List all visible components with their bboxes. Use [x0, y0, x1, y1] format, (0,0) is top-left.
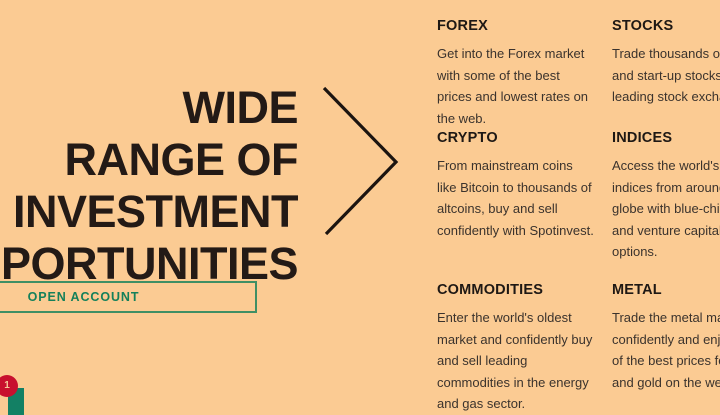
feature-stocks-body-line: and start-up stocks f [612, 68, 720, 83]
chevron-right-icon [316, 80, 408, 244]
feature-metal-body-line: confidently and enjo [612, 332, 720, 347]
feature-forex-title: FOREX [437, 18, 595, 34]
feature-crypto-body: From mainstream coins like Bitcoin to th… [437, 155, 595, 241]
feature-metal-body-line: and gold on the web [612, 375, 720, 390]
feature-stocks-title: STOCKS [612, 18, 720, 34]
feature-stocks-body-line: Trade thousands of b [612, 46, 720, 61]
feature-forex: FOREX Get into the Forex market with som… [437, 18, 595, 129]
feature-forex-body: Get into the Forex market with some of t… [437, 43, 595, 129]
headline-line-3: INVESTMENT [0, 186, 298, 238]
headline-line-1: WIDE [0, 82, 298, 134]
page-viewport: WIDE RANGE OF INVESTMENT OPPORTUNITIES O… [0, 0, 720, 415]
feature-metal: METAL Trade the metal mar confidently an… [612, 282, 720, 393]
hero-section: WIDE RANGE OF INVESTMENT OPPORTUNITIES O… [0, 0, 310, 415]
feature-commodities-body: Enter the world's oldest market and conf… [437, 307, 595, 415]
feature-metal-body: Trade the metal mar confidently and enjo… [612, 307, 720, 393]
feature-indices-title: INDICES [612, 130, 720, 146]
feature-stocks: STOCKS Trade thousands of b and start-up… [612, 18, 720, 108]
feature-indices: INDICES Access the world's le indices fr… [612, 130, 720, 263]
page-title: WIDE RANGE OF INVESTMENT OPPORTUNITIES [0, 82, 298, 290]
feature-indices-body-line: options. [612, 244, 658, 259]
feature-stocks-body-line: leading stock exchan [612, 89, 720, 104]
feature-crypto-title: CRYPTO [437, 130, 595, 146]
feature-indices-body-line: globe with blue-chip [612, 201, 720, 216]
feature-metal-title: METAL [612, 282, 720, 298]
feature-indices-body-line: indices from around [612, 180, 720, 195]
feature-crypto: CRYPTO From mainstream coins like Bitcoi… [437, 130, 595, 241]
feature-indices-body-line: and venture capital-f [612, 223, 720, 238]
features-section: FOREX Get into the Forex market with som… [437, 18, 720, 415]
headline-line-2: RANGE OF [0, 134, 298, 186]
feature-commodities: COMMODITIES Enter the world's oldest mar… [437, 282, 595, 415]
feature-metal-body-line: of the best prices for [612, 353, 720, 368]
feature-indices-body-line: Access the world's le [612, 158, 720, 173]
feature-indices-body: Access the world's le indices from aroun… [612, 155, 720, 263]
open-account-button[interactable]: OPEN ACCOUNT [0, 281, 257, 313]
feature-commodities-title: COMMODITIES [437, 282, 595, 298]
feature-stocks-body: Trade thousands of b and start-up stocks… [612, 43, 720, 108]
feature-metal-body-line: Trade the metal mar [612, 310, 720, 325]
notification-widget[interactable]: 1 [0, 375, 30, 415]
